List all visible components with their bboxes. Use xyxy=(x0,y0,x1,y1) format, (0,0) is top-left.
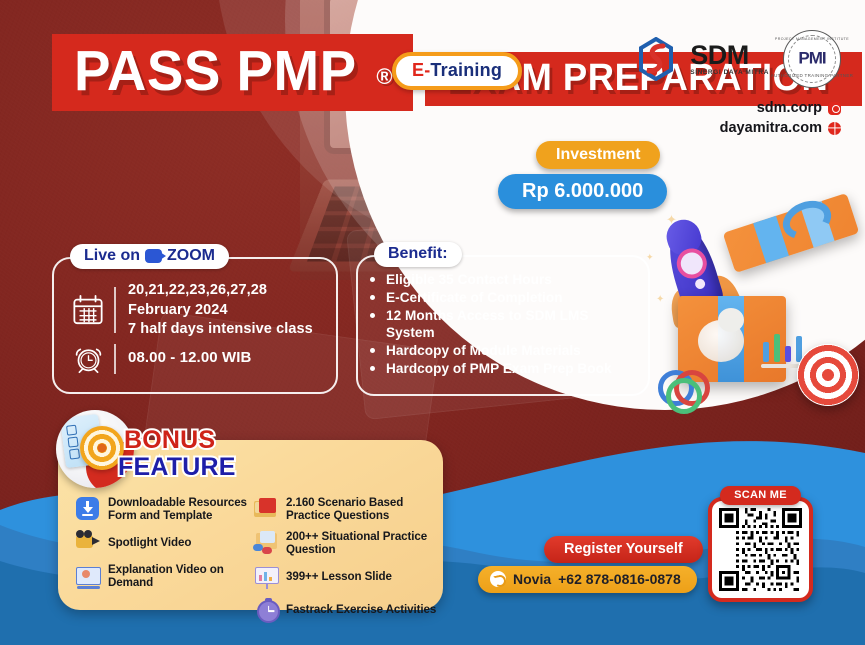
investment-label: Investment xyxy=(536,141,660,169)
sdm-tagline: SINERGI DAYA MITRA xyxy=(690,70,769,77)
schedule-dates-row: 20,21,22,23,26,27,28 February 2024 7 hal… xyxy=(66,281,313,340)
contact-whatsapp[interactable]: Novia +62 878-0816-0878 xyxy=(478,566,697,593)
scan-me-label: SCAN ME xyxy=(720,486,801,505)
rings-icon xyxy=(658,370,708,402)
alarm-clock-icon xyxy=(66,343,110,374)
bonus-columns: Downloadable Resources Form and Template… xyxy=(58,496,443,630)
schedule-time-row: 08.00 - 12.00 WIB xyxy=(66,343,251,374)
schedule-dates-text: 20,21,22,23,26,27,28 February 2024 7 hal… xyxy=(128,281,313,340)
sdm-wordmark: SDM SINERGI DAYA MITRA xyxy=(690,42,769,77)
etraining-badge: E-Training xyxy=(392,52,522,90)
bonus-item: Spotlight Video xyxy=(75,530,253,556)
monitor-presenter-icon xyxy=(75,563,101,589)
stopwatch-icon xyxy=(253,597,279,623)
benefit-list: Eligible 35 Contact Hours E-Certificate … xyxy=(358,257,648,378)
bonus-item-label: Downloadable Resources Form and Template xyxy=(108,496,253,523)
brand-block: SDM SINERGI DAYA MITRA PROJECT MANAGEMEN… xyxy=(636,30,841,138)
globe-icon xyxy=(828,122,841,135)
sparkle-icon: ✦ xyxy=(646,252,654,263)
bonus-item-label: Fastrack Exercise Activities xyxy=(286,603,436,616)
bonus-item-label: Explanation Video on Demand xyxy=(108,563,253,590)
register-button[interactable]: Register Yourself xyxy=(544,536,703,563)
video-camera-icon xyxy=(75,530,101,556)
bonus-title-top: BONUS xyxy=(124,428,236,452)
schedule-time-text: 08.00 - 12.00 WIB xyxy=(128,348,251,368)
bonus-item-label: 2.160 Scenario Based Practice Questions xyxy=(286,496,443,523)
calendar-icon xyxy=(66,294,110,326)
bonus-item: 2.160 Scenario Based Practice Questions xyxy=(253,496,443,523)
benefit-item: 12 Months Access to SDM LMS System xyxy=(384,307,638,343)
zoom-badge-suffix: ZOOM xyxy=(167,247,215,265)
etraining-suffix: Training xyxy=(430,60,502,80)
bonus-item: Downloadable Resources Form and Template xyxy=(75,496,253,523)
contact-phone: +62 878-0816-0878 xyxy=(558,571,681,587)
bonus-item: 200++ Situational Practice Question xyxy=(253,530,443,557)
schedule-month-year: February 2024 xyxy=(128,301,313,321)
registered-trademark-icon: ® xyxy=(376,64,392,89)
benefit-box: Benefit: Eligible 35 Contact Hours E-Cer… xyxy=(356,255,650,396)
bonus-item-label: 399++ Lesson Slide xyxy=(286,570,392,583)
bonus-column-right: 2.160 Scenario Based Practice Questions … xyxy=(253,496,443,630)
pmi-seal-top-text: PROJECT MANAGEMENT INSTITUTE xyxy=(775,37,849,41)
bonus-item: Fastrack Exercise Activities xyxy=(253,597,443,623)
instagram-label: sdm.corp xyxy=(757,98,822,118)
schedule-class-note: 7 half days intensive class xyxy=(128,320,313,340)
website-link[interactable]: dayamitra.com xyxy=(636,118,841,138)
qr-code[interactable] xyxy=(719,508,802,591)
sdm-name: SDM xyxy=(690,42,769,69)
bonus-item: 399++ Lesson Slide xyxy=(253,564,443,590)
pmi-seal-mark: PMI xyxy=(798,49,825,69)
sparkle-icon: ✦ xyxy=(656,294,664,305)
rocket-gift-illustration: ✦ ✦ ✦ xyxy=(644,198,859,408)
schedule-dates: 20,21,22,23,26,27,28 xyxy=(128,281,313,301)
qr-block[interactable]: SCAN ME xyxy=(708,486,813,602)
bonus-item-label: Spotlight Video xyxy=(108,536,191,549)
zoom-camera-icon xyxy=(145,249,162,263)
target-icon xyxy=(797,344,859,406)
bonus-item: Explanation Video on Demand xyxy=(75,563,253,590)
benefit-item: Hardcopy of PMP Exam Prep Book xyxy=(384,360,638,378)
title-line-1: PASS PMP xyxy=(74,43,357,100)
bonus-item-label: 200++ Situational Practice Question xyxy=(286,530,443,557)
sdm-logo-icon xyxy=(636,37,676,81)
benefit-label: Benefit: xyxy=(374,242,462,267)
bonus-title-bottom: FEATURE xyxy=(118,455,236,479)
investment-price: Rp 6.000.000 xyxy=(498,174,667,209)
title-banner-primary: PASS PMP® xyxy=(52,34,413,111)
presentation-icon xyxy=(253,564,279,590)
qr-card xyxy=(708,497,813,602)
instagram-icon xyxy=(828,102,841,115)
benefit-item: E-Certificate of Completion xyxy=(384,289,638,307)
divider xyxy=(114,344,116,374)
zoom-badge-prefix: Live on xyxy=(84,247,140,265)
contact-name: Novia xyxy=(513,571,551,587)
schedule-box: Live on ZOOM xyxy=(52,257,338,394)
pmi-atp-seal: PROJECT MANAGEMENT INSTITUTE PMI AUTHORI… xyxy=(783,30,841,88)
etraining-prefix: E- xyxy=(412,60,430,80)
bonus-column-left: Downloadable Resources Form and Template… xyxy=(58,496,253,630)
benefit-item: Eligible 35 Contact Hours xyxy=(384,271,638,289)
chat-folder-icon xyxy=(253,530,279,556)
bonus-title: BONUS FEATURE xyxy=(118,428,236,479)
instagram-handle[interactable]: sdm.corp xyxy=(636,98,841,118)
brand-links: sdm.corp dayamitra.com xyxy=(636,98,841,138)
live-on-zoom-badge: Live on ZOOM xyxy=(70,244,229,269)
whatsapp-icon xyxy=(490,571,506,587)
benefit-item: Hardcopy of Module Materials xyxy=(384,342,638,360)
rocket-smoke xyxy=(698,320,744,362)
download-icon xyxy=(75,496,101,522)
investment-block: Investment Rp 6.000.000 xyxy=(536,141,667,209)
folder-icon xyxy=(253,496,279,522)
divider xyxy=(114,287,116,333)
pmi-seal-bottom-text: AUTHORIZED TRAINING PARTNER xyxy=(771,73,853,78)
flyer-canvas: ✦ ✦ ✦ PA xyxy=(0,0,865,645)
website-label: dayamitra.com xyxy=(720,118,822,138)
